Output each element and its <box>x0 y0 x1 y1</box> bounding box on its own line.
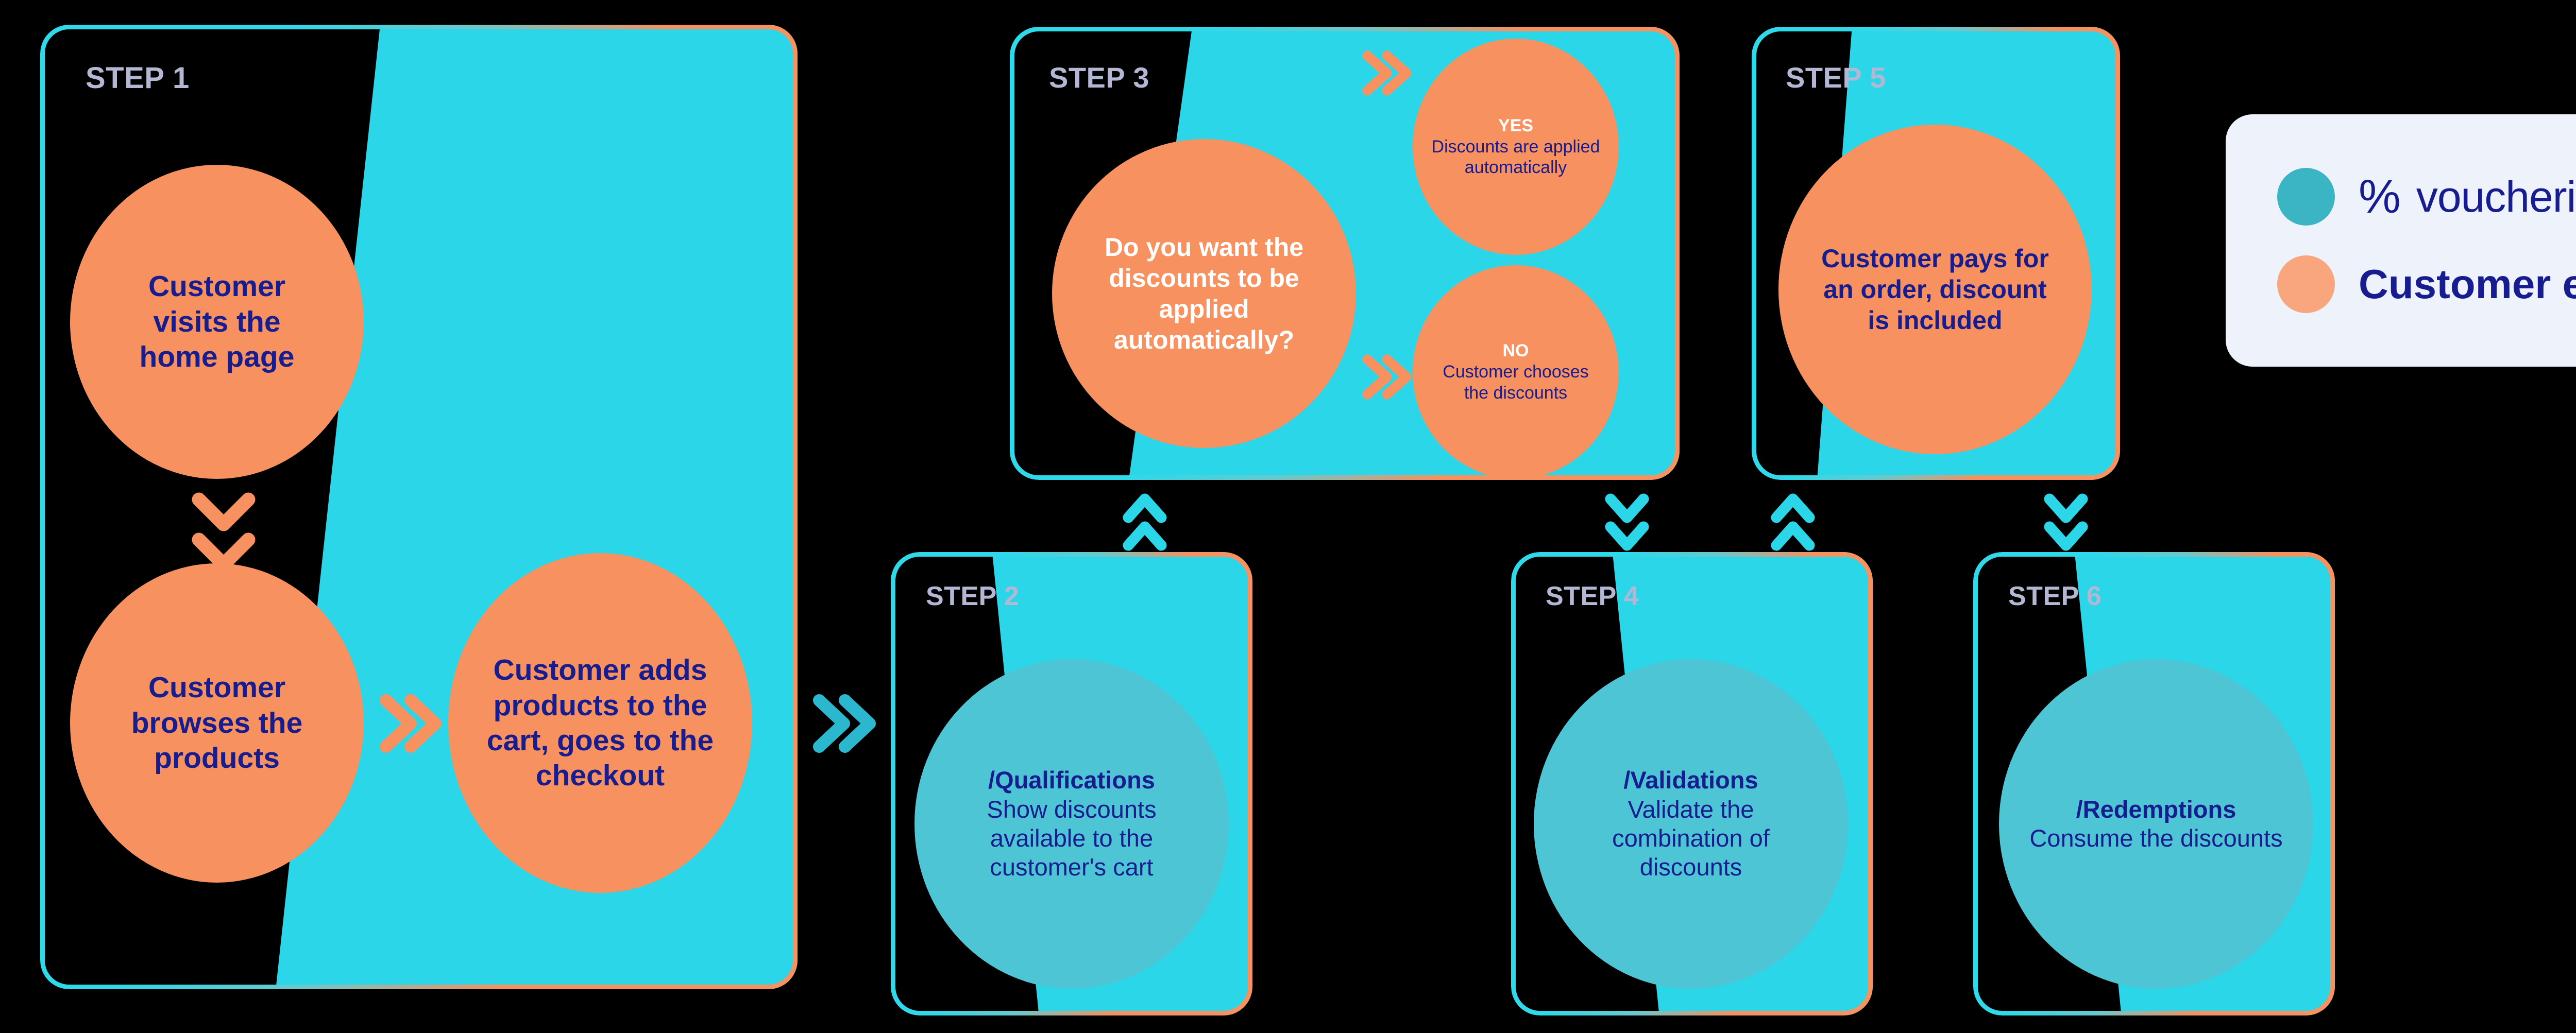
percent-icon: % <box>2359 170 2401 224</box>
bubble-title: /Qualifications <box>943 766 1200 795</box>
chevron-up-double-icon <box>1114 492 1176 553</box>
chevron-down-double-icon <box>188 490 260 575</box>
conn-cart-to-step2 <box>804 685 881 762</box>
conn-browse-to-cart <box>368 685 446 762</box>
legend-label-voucherify: voucherify <box>2416 172 2576 222</box>
conn-step2-to-step3 <box>1114 492 1176 553</box>
bubble-redemptions[interactable]: /Redemptions Consume the discounts <box>1999 659 2313 989</box>
bubble-text: Customer adds products to the cart, goes… <box>479 652 722 794</box>
legend-panel: % voucherify Customer experience <box>2226 114 2576 367</box>
bubble-text: Customer visits the home page <box>111 269 323 374</box>
chevron-right-double-icon <box>1355 346 1417 408</box>
step-label-3: STEP 3 <box>1049 61 1149 94</box>
bubble-text-block: /Redemptions Consume the discounts <box>2026 795 2285 853</box>
bubble-text: Customer browses the products <box>106 670 328 776</box>
bubble-text-block: /Validations Validate the combination of… <box>1564 766 1818 882</box>
bubble-body: Show discounts available to the customer… <box>987 796 1156 881</box>
legend-item-voucherify: % voucherify <box>2277 168 2576 226</box>
bubble-customer-adds-products[interactable]: Customer adds products to the cart, goes… <box>448 553 752 893</box>
bubble-body: Customer chooses the discounts <box>1443 362 1588 403</box>
step-label-1: STEP 1 <box>86 61 190 95</box>
legend-label-customer-experience: Customer experience <box>2359 261 2576 308</box>
conn-step5-to-step6 <box>2035 492 2097 553</box>
conn-step3-to-step4 <box>1596 492 1658 553</box>
bubble-text-block: NO Customer chooses the discounts <box>1430 340 1601 403</box>
step-label-5: STEP 5 <box>1786 61 1886 94</box>
bubble-validations[interactable]: /Validations Validate the combination of… <box>1534 659 1848 989</box>
legend-dot-voucherify <box>2277 168 2335 226</box>
bubble-title: NO <box>1433 340 1598 361</box>
bubble-title: YES <box>1431 115 1601 136</box>
bubble-text: Do you want the discounts to be applied … <box>1077 232 1331 355</box>
bubble-body: Discounts are applied automatically <box>1432 137 1600 178</box>
bubble-branch-no[interactable]: NO Customer chooses the discounts <box>1413 265 1619 479</box>
chevron-down-double-icon <box>2035 492 2097 553</box>
chevron-right-double-icon <box>368 685 446 762</box>
legend-dot-customer-experience <box>2277 255 2335 313</box>
bubble-body: Consume the discounts <box>2029 824 2282 852</box>
bubble-customer-browses-products[interactable]: Customer browses the products <box>70 563 364 883</box>
bubble-text: Customer pays for an order, discount is … <box>1811 243 2059 336</box>
conn-visits-to-browses <box>188 490 260 575</box>
voucherify-logo: % voucherify <box>2359 170 2576 224</box>
chevron-right-double-icon <box>804 685 881 762</box>
bubble-customer-pays[interactable]: Customer pays for an order, discount is … <box>1778 125 2092 454</box>
conn-step4-to-step5 <box>1762 492 1824 553</box>
chevron-right-double-icon <box>1355 42 1417 104</box>
step-label-6: STEP 6 <box>2008 581 2102 612</box>
conn-decision-to-no <box>1355 346 1417 408</box>
conn-decision-to-yes <box>1355 42 1417 104</box>
step-label-2: STEP 2 <box>926 581 1019 612</box>
step-label-4: STEP 4 <box>1546 581 1639 612</box>
bubble-title: /Validations <box>1567 766 1815 795</box>
legend-item-customer-experience: Customer experience <box>2277 255 2576 313</box>
bubble-qualifications[interactable]: /Qualifications Show discounts available… <box>914 659 1229 989</box>
chevron-down-double-icon <box>1596 492 1658 553</box>
bubble-customer-visits-home-page[interactable]: Customer visits the home page <box>70 165 364 479</box>
chevron-up-double-icon <box>1762 492 1824 553</box>
bubble-branch-yes[interactable]: YES Discounts are applied automatically <box>1413 39 1619 255</box>
diagram-canvas: STEP 1 Customer visits the home page Cus… <box>0 0 2576 1033</box>
bubble-decision-auto-discounts[interactable]: Do you want the discounts to be applied … <box>1052 139 1356 448</box>
bubble-text-block: YES Discounts are applied automatically <box>1428 115 1604 178</box>
bubble-title: /Redemptions <box>2029 795 2282 824</box>
bubble-body: Validate the combination of discounts <box>1612 796 1770 881</box>
bubble-text-block: /Qualifications Show discounts available… <box>940 766 1204 882</box>
